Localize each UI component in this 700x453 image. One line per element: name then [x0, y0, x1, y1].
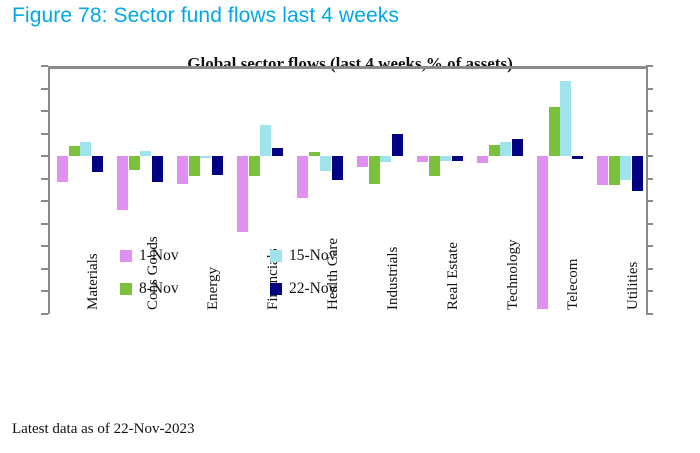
- legend-item-1-nov[interactable]: 1-Nov: [120, 247, 179, 265]
- y-tick-right: [646, 155, 653, 157]
- y-tick-left: [41, 65, 48, 67]
- y-tick-right: [646, 65, 653, 67]
- legend-label: 22-Nov: [289, 280, 336, 298]
- zero-baseline: [48, 66, 648, 69]
- y-tick-right: [646, 290, 653, 292]
- x-axis-label-telecom: Telecom: [565, 259, 582, 310]
- y-tick-left: [41, 268, 48, 270]
- bar-real-estate-22-nov: [452, 156, 463, 161]
- bar-industrials-22-nov: [392, 134, 403, 157]
- bar-utilities-15-nov: [620, 156, 631, 180]
- bar-cons-goods-15-nov: [140, 151, 151, 157]
- x-axis-label-technology: Technology: [505, 239, 522, 310]
- legend-item-8-nov[interactable]: 8-Nov: [120, 280, 179, 298]
- y-tick-left: [41, 155, 48, 157]
- y-tick-right: [646, 88, 653, 90]
- bar-real-estate-8-nov: [429, 156, 440, 176]
- legend-swatch-icon: [270, 283, 282, 295]
- y-axis-right-spine: [646, 66, 648, 314]
- y-axis-left-spine: [48, 66, 50, 314]
- chart-container: Global sector flows (last 4 weeks,% of a…: [0, 52, 700, 322]
- y-tick-left: [41, 133, 48, 135]
- y-tick-right: [646, 313, 653, 315]
- y-tick-right: [646, 245, 653, 247]
- y-tick-right: [646, 110, 653, 112]
- bar-telecom-8-nov: [549, 107, 560, 156]
- x-axis-label-real-estate: Real Estate: [445, 242, 462, 310]
- y-tick-right: [646, 178, 653, 180]
- y-tick-left: [41, 290, 48, 292]
- y-tick-left: [41, 245, 48, 247]
- legend-label: 1-Nov: [139, 247, 179, 265]
- legend-swatch-icon: [120, 283, 132, 295]
- y-tick-right: [646, 200, 653, 202]
- legend-label: 8-Nov: [139, 280, 179, 298]
- bar-financials-1-nov: [237, 156, 248, 232]
- chart-legend: 1-Nov8-Nov15-Nov22-Nov: [120, 247, 420, 309]
- x-axis-label-materials: Materials: [85, 253, 102, 310]
- bar-utilities-1-nov: [597, 156, 608, 185]
- legend-item-15-nov[interactable]: 15-Nov: [270, 247, 336, 265]
- bar-technology-15-nov: [500, 142, 511, 156]
- bar-materials-15-nov: [80, 142, 91, 156]
- bar-industrials-8-nov: [369, 156, 380, 184]
- bar-utilities-22-nov: [632, 156, 643, 191]
- bar-telecom-15-nov: [560, 81, 571, 156]
- y-tick-left: [41, 223, 48, 225]
- bar-health-care-8-nov: [309, 152, 320, 156]
- bar-technology-1-nov: [477, 156, 488, 163]
- legend-swatch-icon: [120, 250, 132, 262]
- bar-energy-15-nov: [200, 156, 211, 158]
- bar-financials-22-nov: [272, 148, 283, 156]
- bar-technology-8-nov: [489, 145, 500, 156]
- bar-cons-goods-1-nov: [117, 156, 128, 210]
- y-tick-right: [646, 268, 653, 270]
- y-tick-left: [41, 110, 48, 112]
- bar-materials-22-nov: [92, 156, 103, 172]
- y-tick-left: [41, 88, 48, 90]
- bar-industrials-1-nov: [357, 156, 368, 167]
- legend-swatch-icon: [270, 250, 282, 262]
- bar-industrials-15-nov: [380, 156, 391, 162]
- bar-telecom-1-nov: [537, 156, 548, 309]
- bar-telecom-22-nov: [572, 156, 583, 159]
- bar-energy-1-nov: [177, 156, 188, 184]
- legend-label: 15-Nov: [289, 247, 336, 265]
- y-tick-right: [646, 133, 653, 135]
- bar-technology-22-nov: [512, 139, 523, 156]
- bar-cons-goods-22-nov: [152, 156, 163, 181]
- figure-heading: Figure 78: Sector fund flows last 4 week…: [12, 4, 399, 28]
- bar-energy-8-nov: [189, 156, 200, 176]
- bar-health-care-15-nov: [320, 156, 331, 171]
- bar-cons-goods-8-nov: [129, 156, 140, 170]
- y-tick-left: [41, 313, 48, 315]
- bar-real-estate-1-nov: [417, 156, 428, 162]
- bar-real-estate-15-nov: [440, 156, 451, 161]
- footnote-text: Latest data as of 22-Nov-2023: [12, 421, 194, 438]
- y-tick-right: [646, 223, 653, 225]
- bar-financials-8-nov: [249, 156, 260, 176]
- y-tick-left: [41, 178, 48, 180]
- bar-health-care-1-nov: [297, 156, 308, 198]
- bar-health-care-22-nov: [332, 156, 343, 180]
- bar-utilities-8-nov: [609, 156, 620, 185]
- bar-materials-1-nov: [57, 156, 68, 181]
- legend-item-22-nov[interactable]: 22-Nov: [270, 280, 336, 298]
- y-tick-left: [41, 200, 48, 202]
- bar-materials-8-nov: [69, 146, 80, 156]
- bar-financials-15-nov: [260, 125, 271, 156]
- x-axis-label-utilities: Utilities: [625, 262, 642, 310]
- bar-energy-22-nov: [212, 156, 223, 175]
